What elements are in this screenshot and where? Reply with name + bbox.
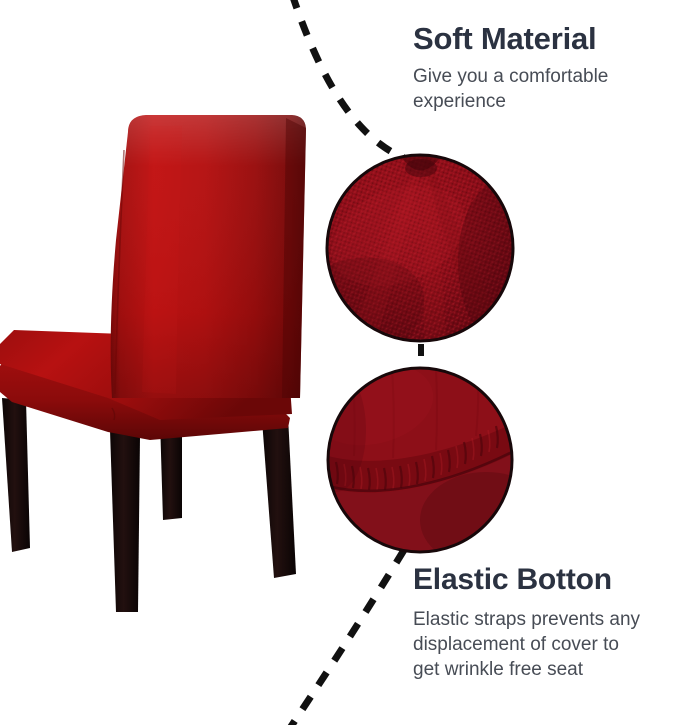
chair-leg-front-right [262,416,296,578]
red-chair-cover-photo [0,115,306,612]
dashed-arc-lower [288,550,404,725]
feature-title-elastic-bottom: Elastic Botton [413,564,679,596]
description-line: displacement of cover to [413,634,619,655]
feature-block-elastic-bottom: Elastic Botton Elastic straps prevents a… [413,564,679,682]
feature-title-soft-material: Soft Material [413,22,675,55]
elastic-hem-closeup [303,352,552,568]
dashed-arc-upper [292,0,404,158]
chair-leg-front-left [110,430,140,612]
description-line: experience [413,91,506,112]
chair-backrest-edge-shadow [282,118,306,398]
description-line: Elastic straps prevents any [413,609,640,630]
fabric-weave-closeup [266,155,542,384]
description-line: get wrinkle free seat [413,659,583,680]
feature-block-soft-material: Soft Material Give you a comfortable exp… [413,22,675,115]
description-line: Give you a comfortable [413,66,608,87]
chair-leg-back-left [2,398,30,552]
feature-description-soft-material: Give you a comfortable experience [413,65,675,114]
product-infographic: Soft Material Give you a comfortable exp… [0,0,679,725]
chair-backrest-shading [111,115,306,398]
feature-description-elastic-bottom: Elastic straps prevents any displacement… [413,608,679,682]
